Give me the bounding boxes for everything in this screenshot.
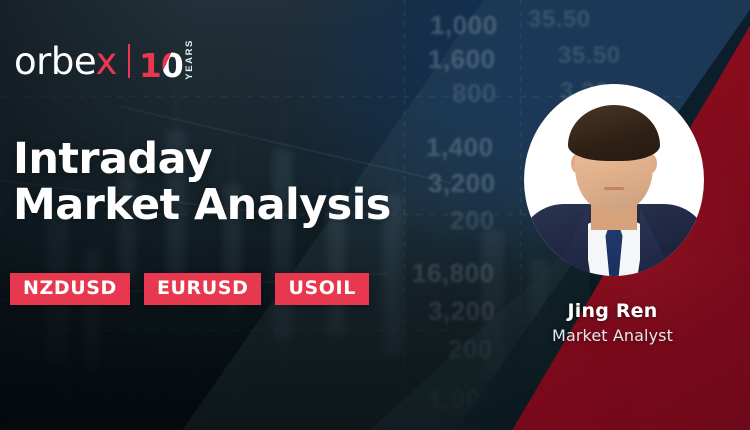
- instrument-tag-nzdusd[interactable]: NZDUSD: [10, 273, 130, 305]
- page-title: Intraday Market Analysis: [13, 136, 483, 229]
- anniversary-badge: 1 0 YEARS: [139, 41, 194, 81]
- marketing-banner: 1,0001,6008001,4003,20020016,8003,200200…: [0, 0, 750, 430]
- logo-divider: [128, 44, 130, 78]
- anniversary-label: YEARS: [185, 39, 195, 80]
- analyst-name: Jing Ren: [500, 300, 725, 324]
- logo-wordmark-text: orbe: [14, 40, 95, 83]
- page-title-line-2: Market Analysis: [13, 182, 483, 228]
- instrument-tag-usoil[interactable]: USOIL: [275, 273, 368, 305]
- avatar-mouth: [604, 187, 624, 190]
- page-title-line-1: Intraday: [13, 134, 212, 184]
- avatar-hair: [568, 105, 660, 161]
- analyst-role: Market Analyst: [500, 325, 725, 347]
- logo-accent-x: x: [95, 40, 116, 83]
- logo-wordmark: orbex: [14, 43, 117, 80]
- analyst-credit: Jing Ren Market Analyst: [500, 300, 725, 346]
- instrument-tag-eurusd[interactable]: EURUSD: [144, 273, 262, 305]
- analyst-avatar: [524, 84, 704, 276]
- instrument-tag-list: NZDUSDEURUSDUSOIL: [10, 273, 369, 305]
- anniversary-digit-zero: 0: [161, 50, 183, 81]
- orbex-logo[interactable]: orbex 1 0 YEARS: [14, 38, 194, 84]
- anniversary-digit-one: 1: [139, 50, 161, 81]
